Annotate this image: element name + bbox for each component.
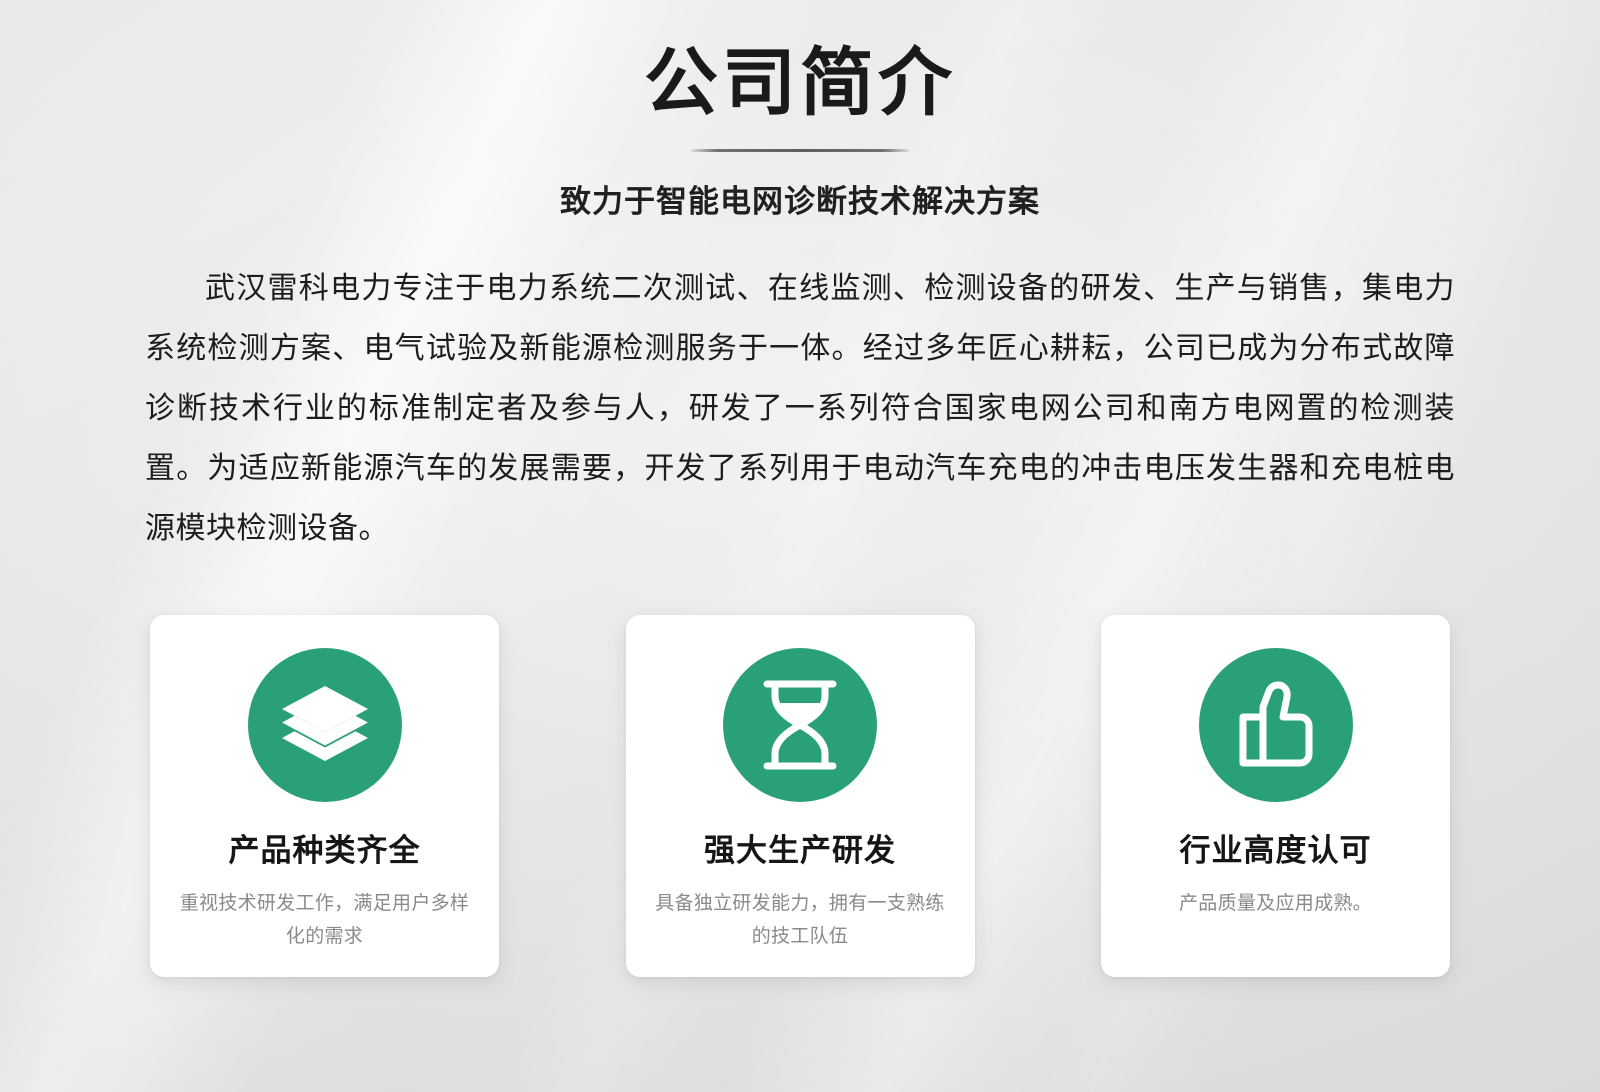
company-intro-paragraph: 武汉雷科电力专注于电力系统二次测试、在线监测、检测设备的研发、生产与销售，集电力… bbox=[145, 259, 1455, 559]
feature-card[interactable]: 行业高度认可 产品质量及应用成熟。 bbox=[1101, 615, 1450, 977]
feature-card-desc: 重视技术研发工作，满足用户多样化的需求 bbox=[180, 887, 470, 953]
layers-icon bbox=[248, 648, 402, 802]
title-divider bbox=[691, 149, 909, 152]
feature-card[interactable]: 强大生产研发 具备独立研发能力，拥有一支熟练的技工队伍 bbox=[626, 615, 975, 977]
page-subtitle: 致力于智能电网诊断技术解决方案 bbox=[0, 176, 1600, 221]
feature-card-desc: 产品质量及应用成熟。 bbox=[1131, 887, 1421, 920]
hourglass-icon bbox=[723, 648, 877, 802]
section-header: 公司简介 致力于智能电网诊断技术解决方案 bbox=[0, 0, 1600, 221]
thumbs-up-icon bbox=[1199, 648, 1353, 802]
feature-card-title: 行业高度认可 bbox=[1180, 832, 1372, 869]
feature-card-desc: 具备独立研发能力，拥有一支熟练的技工队伍 bbox=[655, 887, 945, 953]
feature-card-title: 产品种类齐全 bbox=[229, 832, 421, 869]
page-title: 公司简介 bbox=[0, 42, 1600, 125]
feature-card-title: 强大生产研发 bbox=[704, 832, 896, 869]
feature-card-list: 产品种类齐全 重视技术研发工作，满足用户多样化的需求 强大生产研发 具备独立研发… bbox=[150, 615, 1450, 977]
feature-card[interactable]: 产品种类齐全 重视技术研发工作，满足用户多样化的需求 bbox=[150, 615, 499, 977]
